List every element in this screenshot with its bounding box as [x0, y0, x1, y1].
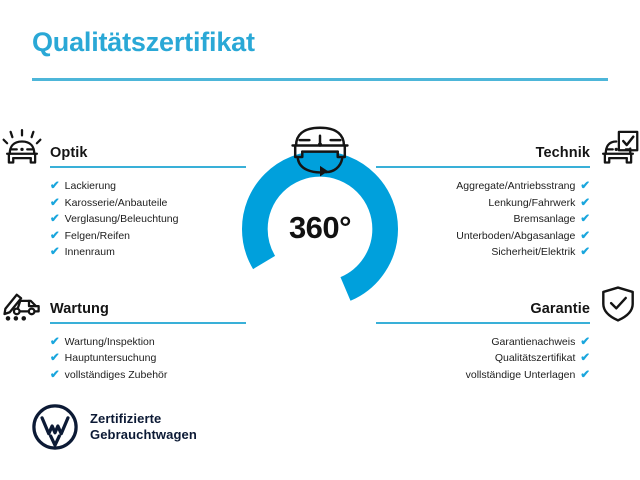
brand-lockup: Zertifizierte Gebrauchtwagen: [32, 404, 197, 450]
list-item-label: Qualitätszertifikat: [495, 350, 576, 367]
check-icon: ✔: [580, 350, 590, 367]
list-item: Garantienachweis✔: [376, 334, 608, 351]
list-item-label: Unterboden/Abgasanlage: [456, 228, 575, 245]
car-service-pen-icon: [0, 284, 44, 324]
list-item: Lenkung/Fahrwerk✔: [376, 195, 608, 212]
check-icon: ✔: [580, 334, 590, 351]
check-icon: ✔: [50, 195, 60, 212]
brand-line-2: Gebrauchtwagen: [90, 427, 197, 443]
section-technik-list: Aggregate/Antriebsstrang✔ Lenkung/Fahrwe…: [376, 178, 608, 261]
left-column: Optik ✔Lackierung ✔Karosserie/Anbauteile…: [32, 128, 264, 383]
section-wartung-title: Wartung: [50, 301, 109, 317]
section-garantie-list: Garantienachweis✔ Qualitätszertifikat✔ v…: [376, 334, 608, 384]
list-item-label: Aggregate/Antriebsstrang: [456, 178, 575, 195]
badge-center-label: 360°: [232, 210, 408, 246]
car-checkbox-icon: [596, 128, 640, 168]
list-item: ✔Hauptuntersuchung: [32, 350, 264, 367]
brand-line-1: Zertifizierte: [90, 411, 197, 427]
list-item-label: Sicherheit/Elektrik: [491, 244, 575, 261]
check-icon: ✔: [580, 228, 590, 245]
certificate-sheet: Qualitätszertifikat: [0, 0, 640, 480]
header: Qualitätszertifikat: [32, 28, 608, 81]
section-optik: Optik ✔Lackierung ✔Karosserie/Anbauteile…: [32, 128, 264, 261]
list-item-label: Verglasung/Beleuchtung: [65, 211, 179, 228]
section-wartung-header: Wartung: [32, 284, 264, 328]
section-garantie-header: Garantie: [376, 284, 608, 328]
list-item: ✔Felgen/Reifen: [32, 228, 264, 245]
section-optik-header: Optik: [32, 128, 264, 172]
section-garantie-divider: [376, 322, 590, 324]
list-item-label: vollständige Unterlagen: [466, 367, 576, 384]
section-garantie-title: Garantie: [530, 301, 590, 317]
check-icon: ✔: [50, 350, 60, 367]
section-wartung-divider: [50, 322, 246, 324]
list-item: Bremsanlage✔: [376, 211, 608, 228]
check-icon: ✔: [50, 367, 60, 384]
section-technik-title: Technik: [536, 145, 590, 161]
section-optik-list: ✔Lackierung ✔Karosserie/Anbauteile ✔Verg…: [32, 178, 264, 261]
list-item: vollständige Unterlagen✔: [376, 367, 608, 384]
list-item-label: Innenraum: [65, 244, 115, 261]
section-technik-divider: [376, 166, 590, 168]
header-divider: [32, 78, 608, 81]
check-icon: ✔: [50, 244, 60, 261]
list-item: ✔Karosserie/Anbauteile: [32, 195, 264, 212]
list-item: ✔Lackierung: [32, 178, 264, 195]
list-item-label: Bremsanlage: [513, 211, 575, 228]
section-wartung: Wartung ✔Wartung/Inspektion ✔Hauptunters…: [32, 284, 264, 384]
list-item-label: Lackierung: [65, 178, 116, 195]
check-icon: ✔: [50, 178, 60, 195]
list-item: Sicherheit/Elektrik✔: [376, 244, 608, 261]
list-item: ✔vollständiges Zubehör: [32, 367, 264, 384]
list-item-label: Wartung/Inspektion: [65, 334, 155, 351]
section-technik: Technik Aggregate/Antriebsstrang✔ Lenkun…: [376, 128, 608, 261]
check-icon: ✔: [580, 244, 590, 261]
list-item: ✔Innenraum: [32, 244, 264, 261]
list-item-label: Karosserie/Anbauteile: [65, 195, 168, 212]
section-optik-title: Optik: [50, 145, 88, 161]
section-garantie: Garantie Garantienachweis✔ Qualitätszert…: [376, 284, 608, 384]
check-icon: ✔: [580, 178, 590, 195]
right-column: Technik Aggregate/Antriebsstrang✔ Lenkun…: [376, 128, 608, 383]
list-item: Aggregate/Antriebsstrang✔: [376, 178, 608, 195]
brand-text: Zertifizierte Gebrauchtwagen: [90, 411, 197, 443]
list-item-label: Lenkung/Fahrwerk: [488, 195, 575, 212]
check-icon: ✔: [580, 367, 590, 384]
vw-logo-icon: [32, 404, 78, 450]
check-icon: ✔: [580, 195, 590, 212]
check-icon: ✔: [50, 228, 60, 245]
list-item: ✔Wartung/Inspektion: [32, 334, 264, 351]
car-shine-icon: [0, 128, 44, 168]
section-optik-divider: [50, 166, 246, 168]
list-item: Unterboden/Abgasanlage✔: [376, 228, 608, 245]
shield-check-icon: [596, 284, 640, 324]
check-icon: ✔: [580, 211, 590, 228]
gebrauchtwagen-check-badge: Gebrauchtwagen-Check 360°: [232, 118, 408, 318]
list-item-label: Felgen/Reifen: [65, 228, 130, 245]
check-icon: ✔: [50, 211, 60, 228]
list-item: Qualitätszertifikat✔: [376, 350, 608, 367]
car-rotate-icon: [280, 118, 360, 180]
section-wartung-list: ✔Wartung/Inspektion ✔Hauptuntersuchung ✔…: [32, 334, 264, 384]
list-item-label: Garantienachweis: [491, 334, 575, 351]
check-icon: ✔: [50, 334, 60, 351]
list-item: ✔Verglasung/Beleuchtung: [32, 211, 264, 228]
page-title: Qualitätszertifikat: [32, 28, 608, 58]
list-item-label: vollständiges Zubehör: [65, 367, 168, 384]
section-technik-header: Technik: [376, 128, 608, 172]
list-item-label: Hauptuntersuchung: [65, 350, 157, 367]
